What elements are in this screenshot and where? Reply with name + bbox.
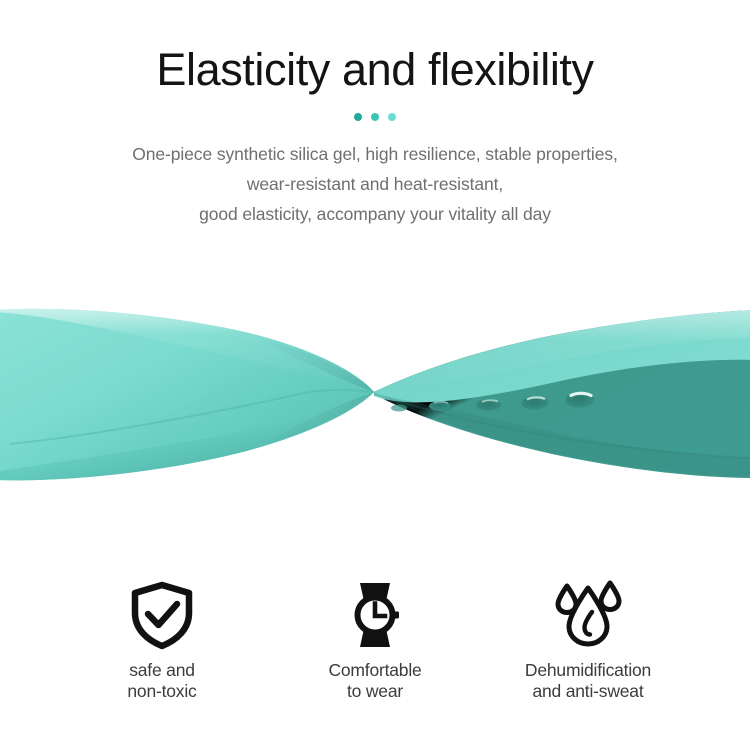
feature-safe-non-toxic: safe and non-toxic	[56, 578, 269, 702]
divider-dot-1	[354, 113, 362, 121]
feature-comfortable-to-wear-label: Comfortable to wear	[328, 660, 421, 702]
feature-label-line-2: non-toxic	[127, 681, 196, 702]
subtitle-line-3: good elasticity, accompany your vitality…	[0, 199, 750, 229]
page-title: Elasticity and flexibility	[0, 0, 750, 94]
divider-dot-3	[388, 113, 396, 121]
subtitle-line-2: wear-resistant and heat-resistant,	[0, 169, 750, 199]
feature-label-line-1: Comfortable	[328, 660, 421, 681]
divider-dot-2	[371, 113, 379, 121]
shield-check-icon	[127, 578, 197, 652]
feature-label-line-1: Dehumidification	[525, 660, 651, 681]
feature-label-line-1: safe and	[127, 660, 196, 681]
dot-divider	[0, 112, 750, 122]
feature-row: safe and non-toxic Comfortable to wear	[0, 578, 750, 708]
feature-label-line-2: and anti-sweat	[525, 681, 651, 702]
product-hero-image	[0, 268, 750, 518]
feature-safe-non-toxic-label: safe and non-toxic	[127, 660, 196, 702]
band-hole-0	[391, 405, 407, 412]
subtitle-block: One-piece synthetic silica gel, high res…	[0, 122, 750, 229]
feature-comfortable-to-wear: Comfortable to wear	[269, 578, 482, 702]
subtitle-line-1: One-piece synthetic silica gel, high res…	[0, 139, 750, 169]
feature-dehumidification: Dehumidification and anti-sweat	[482, 578, 695, 702]
feature-dehumidification-label: Dehumidification and anti-sweat	[525, 660, 651, 702]
header: Elasticity and flexibility One-piece syn…	[0, 0, 750, 229]
product-feature-page: Elasticity and flexibility One-piece syn…	[0, 0, 750, 750]
water-droplets-icon	[551, 578, 625, 652]
feature-label-line-2: to wear	[328, 681, 421, 702]
wristwatch-icon	[340, 578, 410, 652]
